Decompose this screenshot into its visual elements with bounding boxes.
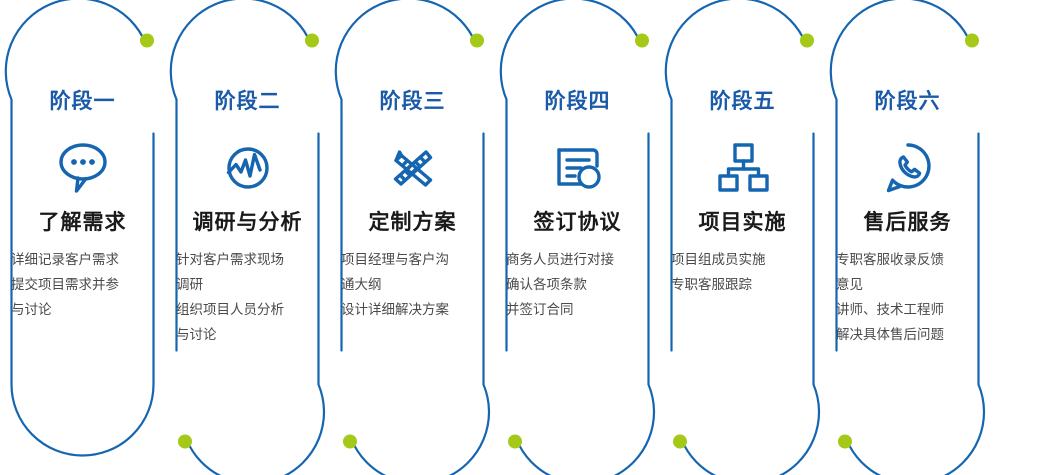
stage-card-5[interactable]: 阶段五 项目实施项目组成员实施专职客服跟踪	[660, 0, 825, 475]
phone-chat-icon	[877, 136, 939, 198]
stage-title: 签订协议	[534, 212, 622, 233]
stage-description-line: 并签订合同	[506, 297, 649, 322]
stage-description-line: 组织项目人员分析	[176, 297, 319, 322]
stage-card-1[interactable]: 阶段一 了解需求详细记录客户需求提交项目需求并参与讨论	[0, 0, 165, 475]
stage-label: 阶段四	[545, 91, 611, 112]
stage-description-line: 意见	[836, 272, 979, 297]
stage-title: 定制方案	[369, 212, 457, 233]
stage-description-line: 与讨论	[11, 297, 154, 322]
stage-card-content: 阶段六 售后服务专职客服收录反馈意见讲师、技术工程师解决具体售后问题	[825, 0, 990, 475]
stage-description-line: 讲师、技术工程师	[836, 297, 979, 322]
stage-label: 阶段一	[50, 91, 116, 112]
stage-description-line: 提交项目需求并参	[11, 272, 154, 297]
stage-description-line: 解决具体售后问题	[836, 322, 979, 347]
stage-description: 项目组成员实施专职客服跟踪	[671, 247, 814, 297]
stage-card-3[interactable]: 阶段三 定制方案项目经理与客户沟通大纲设计详细解决方案	[330, 0, 495, 475]
stage-card-6[interactable]: 阶段六 售后服务专职客服收录反馈意见讲师、技术工程师解决具体售后问题	[825, 0, 990, 475]
stage-board: 阶段一 了解需求详细记录客户需求提交项目需求并参与讨论 阶段二 调研与分析针对客…	[0, 0, 1043, 475]
stage-card-content: 阶段四 签订协议商务人员进行对接确认各项条款并签订合同	[495, 0, 660, 475]
stage-description-line: 与讨论	[176, 322, 319, 347]
stage-description-line: 详细记录客户需求	[11, 247, 154, 272]
stage-description: 详细记录客户需求提交项目需求并参与讨论	[11, 247, 154, 322]
document-search-icon	[547, 136, 609, 198]
stage-description-line: 专职客服跟踪	[671, 272, 814, 297]
stage-description-line: 项目组成员实施	[671, 247, 814, 272]
stage-description: 针对客户需求现场调研组织项目人员分析与讨论	[176, 247, 319, 347]
stage-label: 阶段五	[710, 91, 776, 112]
stage-label: 阶段三	[380, 91, 446, 112]
org-chart-icon	[712, 136, 774, 198]
stage-title: 调研与分析	[193, 212, 303, 233]
stage-card-content: 阶段五 项目实施项目组成员实施专职客服跟踪	[660, 0, 825, 475]
stage-description: 商务人员进行对接确认各项条款并签订合同	[506, 247, 649, 322]
analytics-circle-icon	[217, 136, 279, 198]
stage-description-line: 商务人员进行对接	[506, 247, 649, 272]
stage-description-line: 确认各项条款	[506, 272, 649, 297]
stage-description-line: 设计详细解决方案	[341, 297, 484, 322]
stage-title: 项目实施	[699, 212, 787, 233]
stage-card-content: 阶段一 了解需求详细记录客户需求提交项目需求并参与讨论	[0, 0, 165, 475]
stage-card-4[interactable]: 阶段四 签订协议商务人员进行对接确认各项条款并签订合同	[495, 0, 660, 475]
pencil-ruler-icon	[382, 136, 444, 198]
stage-card-content: 阶段三 定制方案项目经理与客户沟通大纲设计详细解决方案	[330, 0, 495, 475]
chat-bubble-dots-icon	[52, 136, 114, 198]
stage-description-line: 专职客服收录反馈	[836, 247, 979, 272]
stage-description-line: 通大纲	[341, 272, 484, 297]
stage-title: 了解需求	[39, 212, 127, 233]
stage-description: 专职客服收录反馈意见讲师、技术工程师解决具体售后问题	[836, 247, 979, 347]
stage-label: 阶段六	[875, 91, 941, 112]
stage-description: 项目经理与客户沟通大纲设计详细解决方案	[341, 247, 484, 322]
stage-card-2[interactable]: 阶段二 调研与分析针对客户需求现场调研组织项目人员分析与讨论	[165, 0, 330, 475]
stage-label: 阶段二	[215, 91, 281, 112]
stage-title: 售后服务	[864, 212, 952, 233]
stage-description-line: 调研	[176, 272, 319, 297]
stage-description-line: 项目经理与客户沟	[341, 247, 484, 272]
stage-description-line: 针对客户需求现场	[176, 247, 319, 272]
stage-card-content: 阶段二 调研与分析针对客户需求现场调研组织项目人员分析与讨论	[165, 0, 330, 475]
